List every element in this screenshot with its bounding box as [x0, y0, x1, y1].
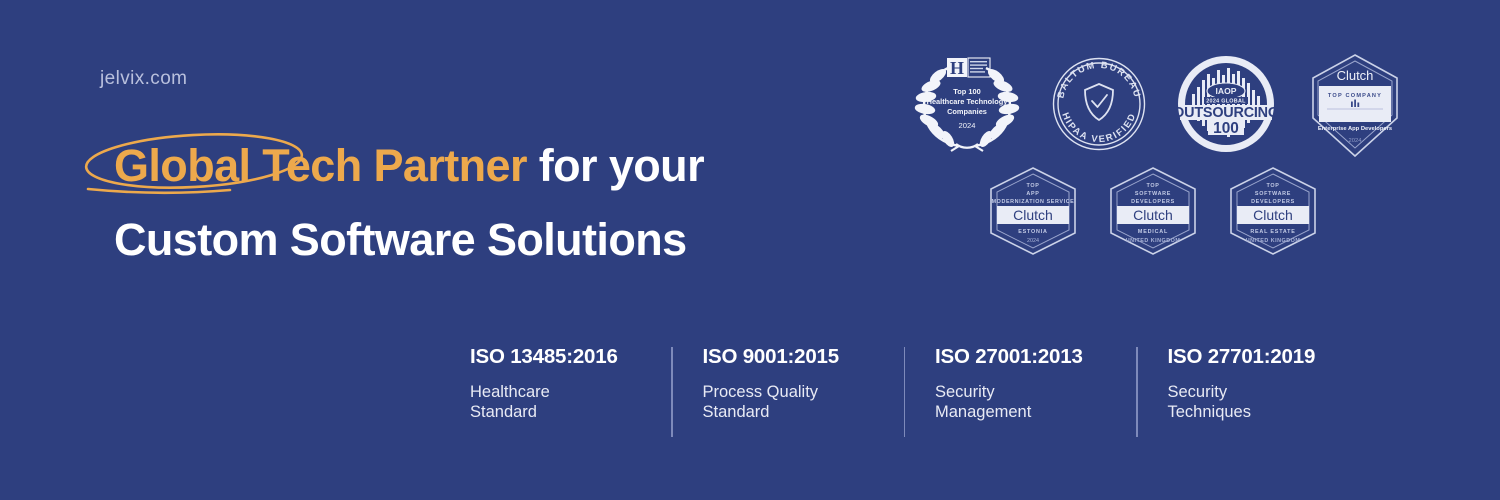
badge-caption-top3: DEVELOPERS: [1131, 199, 1175, 205]
badge-caption-line1: Top 100: [953, 87, 980, 96]
badge-caption-bottom1: REAL ESTATE: [1250, 229, 1295, 235]
iso-cert-desc-line1: Healthcare: [470, 383, 679, 403]
badge-caption-line2: Healthcare Technology: [927, 97, 1009, 106]
column-divider: [904, 347, 906, 437]
iso-cert-desc-line1: Process Quality: [703, 383, 912, 403]
badge-clutch-software-developers-medical-uk[interactable]: TOP SOFTWARE DEVELOPERS Clutch MEDICAL U…: [1103, 165, 1203, 262]
circular-seal-shield-check-icon: BALTUM BUREAU HIPAA VERIFIED: [1049, 54, 1149, 154]
seal-arc-top-text: BALTUM BUREAU: [1054, 59, 1143, 99]
badge-caption-top3: DEVELOPERS: [1251, 199, 1295, 205]
iso-cert-desc-line2: Standard: [470, 403, 679, 423]
badge-clutch-top-company[interactable]: Clutch TOP COMPANY Enterprise App Develo…: [1305, 52, 1405, 165]
badge-caption-line2: Enterprise App Developers: [1318, 126, 1392, 132]
badge-hipaa-verified[interactable]: BALTUM BUREAU HIPAA VERIFIED: [1049, 54, 1149, 159]
badge-caption-bottom2: 2024: [1027, 238, 1039, 244]
awards-badges-group: H Top 100 Healthcare Technology Companie…: [912, 52, 1412, 277]
headline-rest-text: for your: [527, 140, 704, 191]
badge-brand-label: Clutch: [1253, 207, 1293, 223]
headline-block: Global Tech Partner for your Custom Soft…: [100, 136, 920, 270]
headline-line-1: Global Tech Partner for your: [100, 136, 920, 196]
badge-caption-top2: APP: [1026, 191, 1039, 197]
headline-line-2: Custom Software Solutions: [100, 210, 920, 270]
iso-certifications-strip: ISO 13485:2016 Healthcare Standard ISO 9…: [470, 345, 1400, 440]
badge-caption-line3: Companies: [947, 107, 987, 116]
headline-accent-text: Global Tech Partner: [114, 140, 527, 191]
badge-caption-top1: TOP: [1266, 183, 1279, 189]
svg-text:H: H: [950, 58, 964, 78]
iso-cert-title: ISO 27701:2019: [1168, 345, 1377, 369]
badge-clutch-app-modernization-estonia[interactable]: TOP APP MODERNIZATION SERVICE Clutch EST…: [983, 165, 1083, 262]
iso-cert-description: Healthcare Standard: [470, 383, 679, 422]
iso-cert-description: Process Quality Standard: [703, 383, 912, 422]
badge-caption-line1: TOP COMPANY: [1328, 93, 1382, 99]
badge-caption-year: 2024: [1349, 138, 1363, 144]
badge-brand-label: Clutch: [1133, 207, 1173, 223]
iso-cert-desc-line1: Security: [935, 383, 1144, 403]
iso-cert-title: ISO 9001:2015: [703, 345, 912, 369]
badge-caption-top1: TOP: [1146, 183, 1159, 189]
clutch-hexagon-badge-icon: Clutch TOP COMPANY Enterprise App Develo…: [1305, 52, 1405, 160]
iso-cert-description: Security Management: [935, 383, 1144, 422]
badge-clutch-software-developers-realestate-uk[interactable]: TOP SOFTWARE DEVELOPERS Clutch REAL ESTA…: [1223, 165, 1323, 262]
badge-caption-bottom2: UNITED KINGDOM: [1246, 238, 1301, 244]
iso-cert-desc-line2: Techniques: [1168, 403, 1377, 423]
clutch-hexagon-badge-icon: TOP SOFTWARE DEVELOPERS Clutch MEDICAL U…: [1103, 165, 1203, 257]
iso-cert-description: Security Techniques: [1168, 383, 1377, 422]
seal-arc-bottom-text: HIPAA VERIFIED: [1060, 111, 1138, 145]
clutch-hexagon-badge-icon: TOP SOFTWARE DEVELOPERS Clutch REAL ESTA…: [1223, 165, 1323, 257]
iso-cert-desc-line1: Security: [1168, 383, 1377, 403]
column-divider: [671, 347, 673, 437]
badge-caption-year: 2024: [959, 121, 976, 130]
badge-caption-top1: TOP: [1026, 183, 1039, 189]
badge-caption-top2: SOFTWARE: [1135, 191, 1171, 197]
iso-cert-desc-line2: Management: [935, 403, 1144, 423]
badge-iaop-outsourcing-100[interactable]: IAOP 2024 GLOBAL OUTSOURCING 100: [1174, 54, 1278, 159]
badge-caption-top2: SOFTWARE: [1255, 191, 1291, 197]
badge-caption-line3: 100: [1213, 120, 1239, 137]
badge-caption-bottom2: UNITED KINGDOM: [1126, 238, 1181, 244]
badge-brand-label: Clutch: [1013, 207, 1053, 223]
badge-org-label: IAOP: [1215, 86, 1236, 96]
badge-caption-bottom1: ESTONIA: [1018, 229, 1047, 235]
badge-brand-label: Clutch: [1337, 68, 1374, 83]
badge-caption-top3: MODERNIZATION SERVICE: [992, 199, 1075, 205]
laurel-wreath-badge-icon: H Top 100 Healthcare Technology Companie…: [912, 52, 1022, 152]
iso-cert-title: ISO 13485:2016: [470, 345, 679, 369]
site-url-label: jelvix.com: [100, 68, 187, 90]
iso-cert-item-3: ISO 27701:2019 Security Techniques: [1168, 345, 1401, 440]
iso-cert-item-1: ISO 9001:2015 Process Quality Standard: [703, 345, 936, 440]
clutch-hexagon-badge-icon: TOP APP MODERNIZATION SERVICE Clutch EST…: [983, 165, 1083, 257]
badge-caption-line1: 2024 GLOBAL: [1206, 99, 1246, 105]
iaop-skyline-seal-icon: IAOP 2024 GLOBAL OUTSOURCING 100: [1174, 54, 1278, 154]
column-divider: [1136, 347, 1138, 437]
iso-cert-item-2: ISO 27001:2013 Security Management: [935, 345, 1168, 440]
badge-caption-line2: OUTSOURCING: [1174, 105, 1278, 121]
iso-cert-title: ISO 27001:2013: [935, 345, 1144, 369]
hero-banner: jelvix.com Global Tech Partner for your …: [0, 0, 1500, 500]
iso-cert-desc-line2: Standard: [703, 403, 912, 423]
iso-cert-item-0: ISO 13485:2016 Healthcare Standard: [470, 345, 703, 440]
badge-caption-bottom1: MEDICAL: [1138, 229, 1168, 235]
badge-healthcare-tech-top100[interactable]: H Top 100 Healthcare Technology Companie…: [912, 52, 1022, 157]
